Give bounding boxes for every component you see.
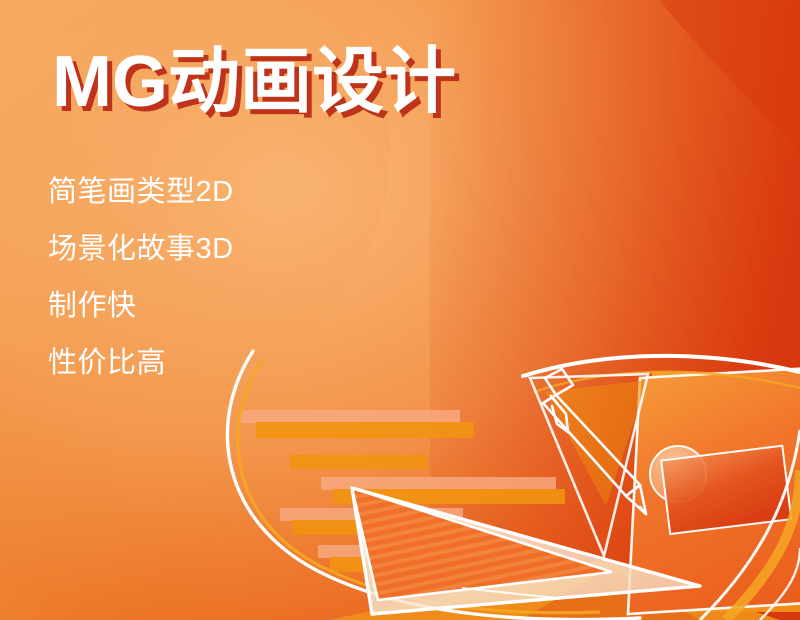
bar-row-2-amber	[290, 455, 427, 469]
mg-animation-banner: MG动画设计 简笔画类型2D 场景化故事3D 制作快 性价比高	[0, 0, 800, 620]
bar-row-1-light	[240, 410, 460, 423]
bar-row-1-amber	[256, 422, 474, 438]
banner-illustration	[0, 0, 800, 620]
